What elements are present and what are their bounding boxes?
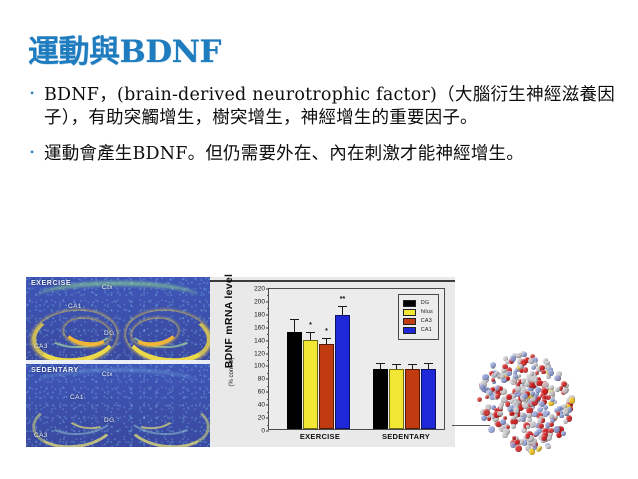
molecule-atom xyxy=(561,390,566,395)
molecule-atom xyxy=(529,448,535,454)
y-axis-tick-label: 40 xyxy=(258,402,265,409)
y-axis-tick-label: 180 xyxy=(254,311,265,318)
molecule-atom xyxy=(495,394,500,399)
error-bar xyxy=(428,364,429,369)
y-axis-tick-label: 0 xyxy=(261,428,265,435)
bar-slot: * xyxy=(303,289,318,429)
molecule-atom xyxy=(541,437,546,442)
molecule-atom xyxy=(499,402,504,407)
molecule-atom xyxy=(537,407,542,412)
molecule-atom xyxy=(501,398,506,403)
molecule-atom xyxy=(539,365,545,371)
chart-top-rule xyxy=(210,280,455,282)
molecule-atom xyxy=(509,411,514,416)
molecule-atom xyxy=(538,402,543,407)
molecule-atom xyxy=(551,393,555,397)
molecule-atom xyxy=(496,372,501,377)
molecule-atom xyxy=(538,423,544,429)
molecule-atom xyxy=(529,359,534,364)
molecule-atom xyxy=(503,428,510,435)
molecule-atom xyxy=(521,378,527,384)
molecule-atom xyxy=(568,395,575,402)
molecule-atom xyxy=(562,388,567,393)
y-axis-tick-label: 120 xyxy=(254,350,265,357)
molecule-atom xyxy=(530,371,535,376)
molecule-atom xyxy=(508,393,515,400)
brain-image-exercise: EXERCISE Ctx CA1 CA3 DG xyxy=(26,277,210,360)
molecule-atom xyxy=(491,386,498,393)
molecule-atom xyxy=(502,432,508,438)
molecule-atom xyxy=(566,401,572,407)
molecule-atom xyxy=(526,431,533,438)
molecule-atom xyxy=(513,436,519,442)
figure-area: EXERCISE Ctx CA1 CA3 DG SEDENTARY Ctx CA… xyxy=(0,0,638,479)
molecule-atom xyxy=(566,407,572,413)
molecule-atom xyxy=(556,432,562,438)
molecule-atom xyxy=(512,441,517,446)
molecule-atom xyxy=(497,411,503,417)
molecule-atom xyxy=(493,411,500,418)
brain-label-sedentary: SEDENTARY xyxy=(31,367,79,374)
brain-region-label-dg: DG xyxy=(104,417,115,424)
molecule-atom xyxy=(495,412,500,417)
molecule-atom xyxy=(510,400,514,404)
molecule-atom xyxy=(520,413,527,420)
molecule-atom xyxy=(521,427,527,433)
molecule-atom xyxy=(512,379,516,383)
y-axis-tick-mark xyxy=(266,418,270,419)
molecule-atom xyxy=(557,406,562,411)
molecule-atom xyxy=(531,441,538,448)
error-bar xyxy=(294,320,295,332)
molecule-atom xyxy=(527,397,533,403)
legend-label-dg: DG xyxy=(421,300,430,306)
molecule-atom xyxy=(512,411,517,416)
molecule-atom xyxy=(479,384,485,390)
molecule-atom xyxy=(556,411,561,416)
molecule-atom xyxy=(487,416,492,421)
molecule-atom xyxy=(529,387,534,392)
molecule-atom xyxy=(541,387,547,393)
molecule-atom xyxy=(520,351,526,357)
molecule-atom xyxy=(534,398,540,404)
y-axis-title: BDNF mRNA level xyxy=(223,266,235,376)
y-axis-tick-mark xyxy=(266,353,270,354)
molecule-atom xyxy=(546,374,551,379)
molecule-atom xyxy=(526,374,532,380)
molecule-atom xyxy=(530,380,535,385)
molecule-atom xyxy=(528,382,534,388)
molecule-atom xyxy=(481,387,486,392)
molecule-atom xyxy=(487,412,493,418)
molecule-atom xyxy=(525,381,529,385)
bullet-list: BDNF，(brain-derived neurotrophic factor)… xyxy=(30,84,615,179)
error-bar xyxy=(380,364,381,369)
error-bar xyxy=(412,365,413,369)
molecule-atom xyxy=(563,419,568,424)
molecule-atom xyxy=(531,376,537,382)
molecule-atom xyxy=(546,411,550,415)
molecule-atom xyxy=(535,423,539,427)
y-axis-units: (% control) xyxy=(229,342,235,402)
molecule-atom xyxy=(488,390,493,395)
molecule-atom xyxy=(498,386,503,391)
molecule-atom xyxy=(561,431,566,436)
molecule-atom xyxy=(520,359,527,366)
molecule-atom xyxy=(491,415,495,419)
y-axis-minor-tick xyxy=(267,425,269,426)
connector-line xyxy=(452,425,490,426)
molecule-atom xyxy=(484,387,491,394)
molecule-atom xyxy=(517,365,522,370)
y-axis-tick-mark xyxy=(266,366,270,367)
molecule-atom xyxy=(516,412,521,417)
molecule-atom xyxy=(550,418,555,423)
molecule-atom xyxy=(523,422,530,429)
y-axis-tick-mark xyxy=(266,392,270,393)
molecule-atom xyxy=(557,426,564,433)
molecule-atom xyxy=(522,440,528,446)
molecule-atom xyxy=(497,413,501,417)
molecule-atom xyxy=(494,408,498,412)
molecule-atom xyxy=(514,414,518,418)
molecule-atom xyxy=(540,393,545,398)
chart-legend: DG hilus CA3 CA1 xyxy=(398,294,439,340)
error-bar-cap xyxy=(338,306,347,307)
molecule-atom xyxy=(499,374,505,380)
molecule-atom xyxy=(535,396,541,402)
protein-molecule-image xyxy=(468,348,580,456)
molecule-atom xyxy=(505,360,510,365)
molecule-atom xyxy=(485,404,491,410)
molecule-atom xyxy=(528,449,532,453)
molecule-atom xyxy=(492,415,499,422)
molecule-atom xyxy=(520,394,526,400)
legend-item: CA3 xyxy=(403,318,433,326)
molecule-atom xyxy=(527,375,534,382)
molecule-atom xyxy=(482,374,488,380)
molecule-atom xyxy=(524,391,530,397)
bullet-dot-icon xyxy=(30,143,44,152)
molecule-atom xyxy=(542,432,548,438)
molecule-atom xyxy=(500,388,507,395)
molecule-atom xyxy=(503,399,507,403)
molecule-atom xyxy=(569,397,575,403)
molecule-atom xyxy=(531,399,538,406)
molecule-atom xyxy=(519,364,523,368)
molecule-atom xyxy=(532,444,537,449)
molecule-atom xyxy=(522,402,529,409)
y-axis-minor-tick xyxy=(267,321,269,322)
molecule-atom xyxy=(508,408,512,412)
legend-swatch-ca3 xyxy=(403,318,416,326)
molecule-atom xyxy=(483,409,490,416)
molecule-atom xyxy=(548,428,554,434)
y-axis-tick-mark xyxy=(266,340,270,341)
molecule-atom xyxy=(495,421,501,427)
molecule-atom xyxy=(502,375,509,382)
molecule-atom xyxy=(556,376,561,381)
error-bar-cap xyxy=(306,332,315,333)
bullet-text: BDNF，(brain-derived neurotrophic factor)… xyxy=(44,84,615,130)
molecule-atom xyxy=(567,406,572,411)
molecule-atom xyxy=(522,393,529,400)
molecule-atom xyxy=(541,434,546,439)
error-bar-cap xyxy=(408,364,417,365)
molecule-atom xyxy=(536,428,542,434)
molecule-atom xyxy=(506,425,510,429)
molecule-atom xyxy=(490,362,496,368)
molecule-atom xyxy=(515,445,522,452)
molecule-atom xyxy=(481,415,487,421)
molecule-atom xyxy=(549,414,553,418)
bar-slot: * xyxy=(319,289,334,429)
molecule-atom xyxy=(528,437,535,444)
molecule-atom xyxy=(521,418,526,423)
molecule-atom xyxy=(520,412,525,417)
molecule-atom xyxy=(510,440,516,446)
legend-label-ca3: CA3 xyxy=(421,318,432,324)
molecule-atom xyxy=(546,369,553,376)
molecule-atom xyxy=(536,412,543,419)
molecule-atom xyxy=(498,424,504,430)
legend-label-ca1: CA1 xyxy=(421,327,432,333)
molecule-atom xyxy=(530,438,536,444)
molecule-atom xyxy=(566,415,573,422)
molecule-atom xyxy=(538,416,544,422)
molecule-atom xyxy=(536,380,543,387)
molecule-atom xyxy=(527,413,531,417)
y-axis-tick-mark xyxy=(266,289,270,290)
error-bar-cap xyxy=(290,319,299,320)
molecule-atom xyxy=(517,439,524,446)
molecule-atom xyxy=(514,439,520,445)
molecule-atom xyxy=(497,406,503,412)
molecule-atom xyxy=(542,410,549,417)
molecule-atom xyxy=(528,379,533,384)
molecule-atom xyxy=(509,358,514,363)
molecule-atom xyxy=(521,391,527,397)
legend-item: CA1 xyxy=(403,327,433,335)
molecule-atom xyxy=(514,408,519,413)
molecule-atom xyxy=(545,426,549,430)
y-axis-tick-label: 140 xyxy=(254,337,265,344)
molecule-atom xyxy=(512,436,518,442)
y-axis-tick-label: 100 xyxy=(254,363,265,370)
molecule-atom xyxy=(510,378,517,385)
molecule-atom xyxy=(524,357,530,363)
brain-image-divider xyxy=(26,360,210,364)
molecule-atom xyxy=(535,387,541,393)
molecule-atom xyxy=(545,422,551,428)
x-axis-group-label: SEDENTARY xyxy=(373,432,439,440)
molecule-atom xyxy=(518,395,524,401)
molecule-atom xyxy=(560,405,565,410)
molecule-atom xyxy=(525,445,531,451)
molecule-atom xyxy=(501,378,506,383)
molecule-atom xyxy=(510,356,515,361)
legend-swatch-dg xyxy=(403,300,416,308)
molecule-atom xyxy=(531,365,536,370)
y-axis-tick-label: 160 xyxy=(254,324,265,331)
molecule-atom xyxy=(541,418,545,422)
bar-hilus xyxy=(389,369,404,429)
bar-slot xyxy=(389,289,404,429)
molecule-atom xyxy=(500,419,506,425)
molecule-atom xyxy=(559,414,563,418)
molecule-atom xyxy=(556,371,562,377)
molecule-atom xyxy=(530,391,535,396)
brain-region-label-ctx: Ctx xyxy=(102,284,113,291)
molecule-atom xyxy=(516,399,522,405)
molecule-atom xyxy=(511,424,516,429)
molecule-atom xyxy=(541,370,546,375)
molecule-atom xyxy=(512,353,518,359)
molecule-atom xyxy=(562,404,567,409)
error-bar-cap xyxy=(322,338,331,339)
molecule-atom xyxy=(530,397,536,403)
y-axis-tick-label: 20 xyxy=(258,415,265,422)
molecule-atom xyxy=(513,406,519,412)
molecule-atom xyxy=(563,387,569,393)
bar-slot xyxy=(421,289,436,429)
molecule-atom xyxy=(517,374,521,378)
bar-slot xyxy=(373,289,388,429)
molecule-atom xyxy=(542,428,549,435)
molecule-atom xyxy=(517,358,522,363)
molecule-atom xyxy=(510,394,516,400)
molecule-atom xyxy=(541,435,547,441)
molecule-atom xyxy=(553,400,557,404)
molecule-atom xyxy=(517,363,524,370)
molecule-atom xyxy=(501,368,506,373)
molecule-atom xyxy=(523,435,529,441)
y-axis-minor-tick xyxy=(267,360,269,361)
molecule-atom xyxy=(515,408,521,414)
molecule-atom xyxy=(521,417,525,421)
molecule-atom xyxy=(512,388,519,395)
molecule-atom xyxy=(510,355,517,362)
molecule-atom xyxy=(503,416,508,421)
molecule-atom xyxy=(545,387,550,392)
molecule-atom xyxy=(506,394,511,399)
molecule-atom xyxy=(542,382,548,388)
y-axis-tick-mark xyxy=(266,431,270,432)
y-axis-minor-tick xyxy=(267,295,269,296)
error-bar xyxy=(396,365,397,369)
molecule-atom xyxy=(529,421,536,428)
y-axis-minor-tick xyxy=(267,412,269,413)
molecule-atom xyxy=(527,436,534,443)
molecule-atom xyxy=(558,410,563,415)
molecule-atom xyxy=(541,381,548,388)
bar-ca1 xyxy=(421,369,436,429)
molecule-atom xyxy=(526,425,530,429)
molecule-atom xyxy=(515,383,521,389)
molecule-atom xyxy=(489,393,496,400)
y-axis-tick-mark xyxy=(266,405,270,406)
molecule-atom xyxy=(497,411,503,417)
molecule-atom xyxy=(515,367,520,372)
molecule-atom xyxy=(536,377,541,382)
plot-area: 020406080100120140160180200220 ****EXERC… xyxy=(268,288,445,430)
brain-region-label-ca1: CA1 xyxy=(68,303,82,310)
molecule-atom xyxy=(537,365,544,372)
molecule-atom xyxy=(516,382,521,387)
molecule-atom xyxy=(497,375,501,379)
molecule-atom xyxy=(515,400,521,406)
molecule-atom xyxy=(541,399,548,406)
bar-dg xyxy=(373,369,388,429)
y-axis-tick-mark xyxy=(266,327,270,328)
molecule-atom xyxy=(539,401,545,407)
molecule-atom xyxy=(554,375,560,381)
molecule-atom xyxy=(495,389,502,396)
molecule-atom xyxy=(479,382,486,389)
molecule-atom xyxy=(554,415,559,420)
molecule-atom xyxy=(495,386,502,393)
bdnf-mrna-bar-chart: BDNF mRNA level (% control) 020406080100… xyxy=(210,277,455,447)
molecule-atom xyxy=(501,371,507,377)
molecule-atom xyxy=(513,374,518,379)
molecule-atom xyxy=(518,379,523,384)
molecule-atom xyxy=(520,395,526,401)
molecule-atom xyxy=(559,386,563,390)
molecule-atom xyxy=(536,366,542,372)
bullet-dot-icon xyxy=(30,84,44,93)
molecule-atom xyxy=(531,384,536,389)
legend-item: hilus xyxy=(403,309,433,317)
molecule-atom xyxy=(563,383,568,388)
molecule-atom xyxy=(491,405,496,410)
molecule-atom xyxy=(524,399,528,403)
molecule-atom xyxy=(529,374,534,379)
molecule-atom xyxy=(485,395,489,399)
legend-item: DG xyxy=(403,300,433,308)
molecule-atom xyxy=(505,401,511,407)
molecule-atom xyxy=(511,405,517,411)
molecule-atom xyxy=(491,365,495,369)
molecule-atom xyxy=(522,353,526,357)
molecule-atom xyxy=(555,387,560,392)
molecule-atom xyxy=(567,402,572,407)
molecule-atom xyxy=(503,423,509,429)
molecule-atom xyxy=(547,431,553,437)
bar-slot xyxy=(405,289,420,429)
bar-slot xyxy=(287,289,302,429)
molecule-atom xyxy=(548,370,554,376)
molecule-atom xyxy=(523,367,528,372)
list-item: 運動會產生BDNF。但仍需要外在、內在刺激才能神經增生。 xyxy=(30,143,615,166)
molecule-atom xyxy=(545,361,550,366)
molecule-atom xyxy=(512,374,519,381)
molecule-atom xyxy=(527,386,533,392)
molecule-atom xyxy=(531,411,538,418)
molecule-atom xyxy=(486,390,492,396)
molecule-atom xyxy=(505,376,510,381)
bullet-text: 運動會產生BDNF。但仍需要外在、內在刺激才能神經增生。 xyxy=(44,143,615,166)
significance-marker: ** xyxy=(335,297,350,303)
molecule-atom xyxy=(531,398,537,404)
molecule-atom xyxy=(531,394,537,400)
bar-group: SEDENTARY xyxy=(373,289,437,429)
molecule-atom xyxy=(544,438,549,443)
molecule-atom xyxy=(495,371,500,376)
molecule-atom xyxy=(526,440,532,446)
list-item: BDNF，(brain-derived neurotrophic factor)… xyxy=(30,84,615,130)
molecule-atom xyxy=(526,407,533,414)
molecule-atom xyxy=(548,401,554,407)
